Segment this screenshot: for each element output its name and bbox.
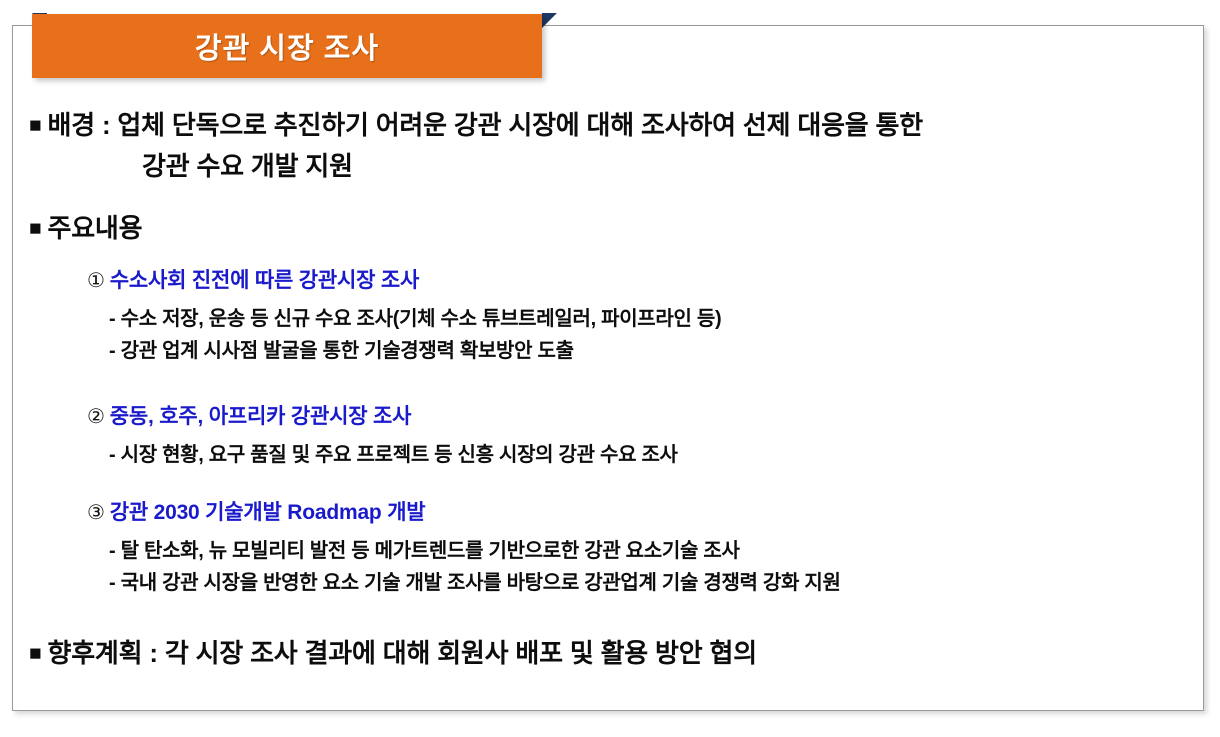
title-banner: 강관 시장 조사 bbox=[18, 14, 542, 78]
item-2-detail-1: - 시장 현황, 요구 품질 및 주요 프로젝트 등 신흥 시장의 강관 수요 … bbox=[109, 438, 678, 467]
item-3-detail-2: - 국내 강관 시장을 반영한 요소 기술 개발 조사를 바탕으로 강관업계 기… bbox=[109, 566, 841, 595]
square-bullet-icon: ■ bbox=[29, 642, 41, 665]
item-1-detail-2: - 강관 업계 시사점 발굴을 통한 기술경쟁력 확보방안 도출 bbox=[109, 334, 574, 363]
section-background-text: 배경 : 업체 단독으로 추진하기 어려운 강관 시장에 대해 조사하여 선제 … bbox=[47, 110, 923, 140]
square-bullet-icon: ■ bbox=[29, 114, 41, 137]
banner-right-corner-icon bbox=[542, 13, 557, 28]
circled-number-1-icon: ① bbox=[87, 270, 105, 292]
item-3-heading-text: 강관 2030 기술개발 Roadmap 개발 bbox=[110, 501, 426, 524]
circled-number-3-icon: ③ bbox=[87, 502, 105, 524]
slide-frame: ■배경 : 업체 단독으로 추진하기 어려운 강관 시장에 대해 조사하여 선제… bbox=[12, 25, 1204, 711]
item-2-heading-text: 중동, 호주, 아프리카 강관시장 조사 bbox=[110, 405, 412, 428]
title-banner-body: 강관 시장 조사 bbox=[32, 14, 542, 78]
section-main-contents: ■주요내용 bbox=[29, 208, 142, 245]
item-1-heading-text: 수소사회 진전에 따른 강관시장 조사 bbox=[110, 269, 419, 292]
item-3-heading: ③강관 2030 기술개발 Roadmap 개발 bbox=[87, 496, 425, 526]
section-future-plan: ■향후계획 : 각 시장 조사 결과에 대해 회원사 배포 및 활용 방안 협의 bbox=[29, 633, 757, 670]
section-background-continuation: 강관 수요 개발 지원 bbox=[142, 146, 353, 183]
item-3-detail-1: - 탈 탄소화, 뉴 모빌리티 발전 등 메가트렌드를 기반으로한 강관 요소기… bbox=[109, 534, 740, 563]
item-1-heading: ①수소사회 진전에 따른 강관시장 조사 bbox=[87, 264, 419, 294]
square-bullet-icon: ■ bbox=[29, 217, 41, 240]
slide-content: ■배경 : 업체 단독으로 추진하기 어려운 강관 시장에 대해 조사하여 선제… bbox=[13, 26, 1205, 712]
page-title: 강관 시장 조사 bbox=[195, 25, 379, 67]
circled-number-2-icon: ② bbox=[87, 406, 105, 428]
item-1-detail-1: - 수소 저장, 운송 등 신규 수요 조사(기체 수소 튜브트레일러, 파이프… bbox=[109, 302, 721, 331]
section-background: ■배경 : 업체 단독으로 추진하기 어려운 강관 시장에 대해 조사하여 선제… bbox=[29, 105, 923, 142]
section-main-contents-text: 주요내용 bbox=[47, 213, 142, 243]
section-future-plan-text: 향후계획 : 각 시장 조사 결과에 대해 회원사 배포 및 활용 방안 협의 bbox=[47, 638, 756, 668]
slide-root: ■배경 : 업체 단독으로 추진하기 어려운 강관 시장에 대해 조사하여 선제… bbox=[0, 0, 1220, 737]
item-2-heading: ②중동, 호주, 아프리카 강관시장 조사 bbox=[87, 400, 411, 430]
